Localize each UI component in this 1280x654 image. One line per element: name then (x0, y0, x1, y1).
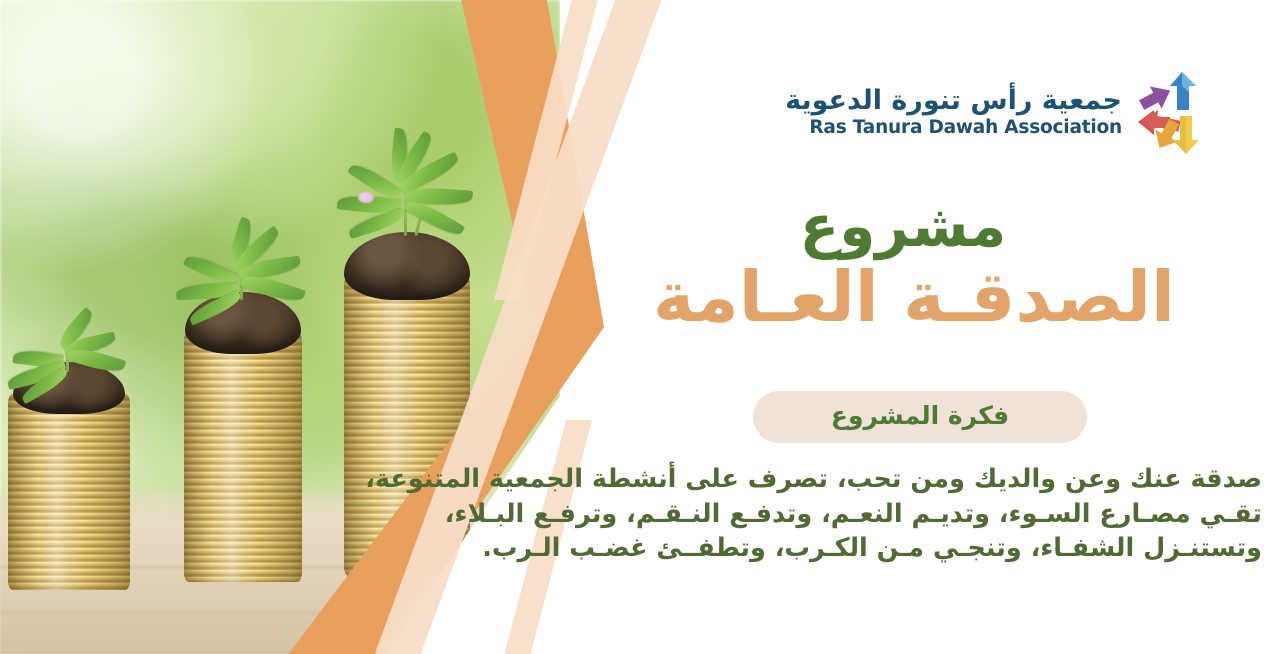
project-idea-badge[interactable]: فكرة المشروع (753, 391, 1087, 443)
logo-name-arabic: جمعية رأس تنورة الدعوية (785, 87, 1122, 114)
description-line: تقـي مصـارع السـوء، وتديـم النعـم، وتدفـ… (594, 497, 1262, 532)
poster-canvas: جمعية رأس تنورة الدعوية Ras Tanura Dawah… (0, 0, 1280, 654)
plant-blossom (358, 192, 374, 203)
title-line-2: الصدقـة العـامة (560, 260, 1280, 334)
association-logo[interactable]: جمعية رأس تنورة الدعوية Ras Tanura Dawah… (785, 66, 1208, 158)
table-plank-line (0, 612, 560, 614)
pinwheel-arrows-logo-icon (1134, 66, 1208, 158)
badge-row: فكرة المشروع (560, 391, 1280, 443)
coin-stack-medium (184, 332, 302, 582)
hero-photo (0, 0, 560, 654)
logo-wordmark: جمعية رأس تنورة الدعوية Ras Tanura Dawah… (785, 87, 1122, 138)
coin-column (8, 394, 130, 590)
description-line: وتستنـزل الشفـاء، وتنجـي مـن الكـرب، وتط… (594, 531, 1262, 566)
project-description: صدقة عنك وعن والديك ومن تحب، تصرف على أن… (560, 462, 1280, 566)
logo-name-english: Ras Tanura Dawah Association (785, 119, 1122, 138)
title-line-1: مشروع (560, 196, 1280, 256)
coin-column (184, 332, 302, 582)
project-title: مشروع الصدقـة العـامة (560, 196, 1280, 335)
content-panel: جمعية رأس تنورة الدعوية Ras Tanura Dawah… (560, 0, 1280, 654)
description-line: صدقة عنك وعن والديك ومن تحب، تصرف على أن… (594, 462, 1262, 497)
coin-stack-small (8, 394, 130, 590)
